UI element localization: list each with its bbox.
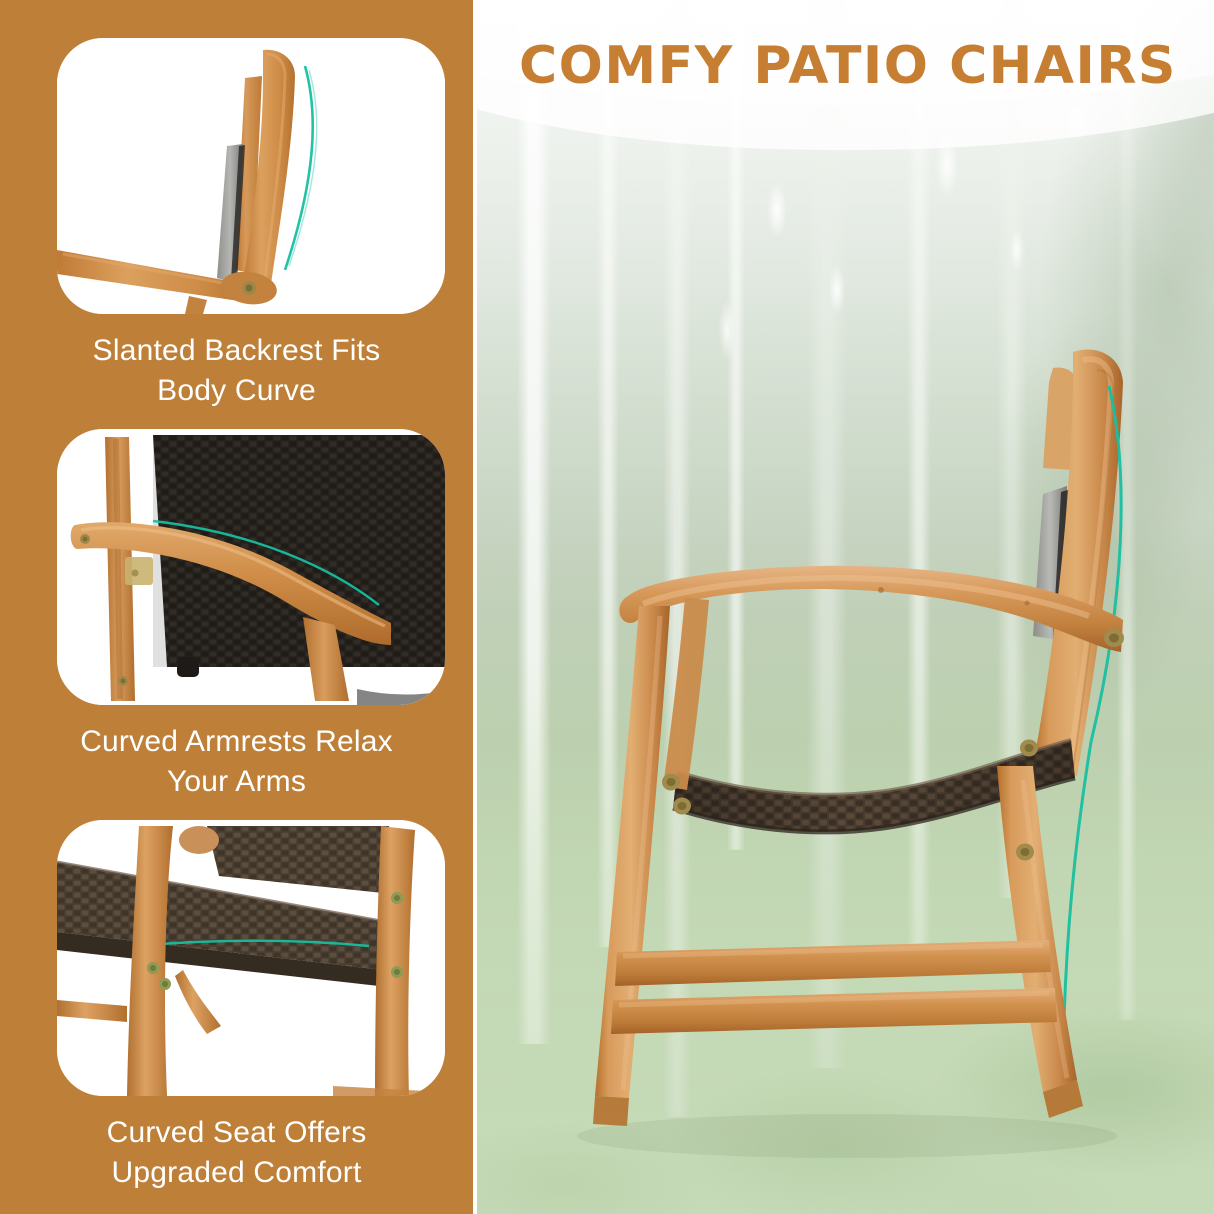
caption-line-1: Curved Seat Offers	[20, 1113, 453, 1153]
curved-armrests-image	[57, 429, 445, 705]
feature-caption-slanted-backrest: Slanted Backrest Fits Body Curve	[20, 331, 453, 410]
caption-line-1: Curved Armrests Relax	[20, 722, 453, 762]
slanted-backrest-image	[57, 38, 445, 314]
feature-card-slanted-backrest[interactable]	[57, 38, 445, 314]
feature-sidebar: Slanted Backrest Fits Body Curve	[0, 0, 473, 1214]
hero-image: COMFY PATIO CHAIRS	[477, 0, 1214, 1214]
caption-line-2: Body Curve	[20, 371, 453, 411]
rear-leg	[997, 766, 1077, 1092]
curved-seat-image	[57, 820, 445, 1096]
feature-card-curved-seat[interactable]	[57, 820, 445, 1096]
feature-caption-curved-seat: Curved Seat Offers Upgraded Comfort	[20, 1113, 453, 1192]
page-title: COMFY PATIO CHAIRS	[477, 36, 1214, 96]
caption-line-2: Upgraded Comfort	[20, 1153, 453, 1193]
caption-line-2: Your Arms	[20, 762, 453, 802]
patio-chair-illustration	[477, 0, 1214, 1214]
caption-line-1: Slanted Backrest Fits	[20, 331, 453, 371]
poster-canvas: Slanted Backrest Fits Body Curve	[0, 0, 1214, 1214]
feature-card-curved-armrests[interactable]	[57, 429, 445, 705]
front-post	[663, 598, 709, 790]
feature-caption-curved-armrests: Curved Armrests Relax Your Arms	[20, 722, 453, 801]
